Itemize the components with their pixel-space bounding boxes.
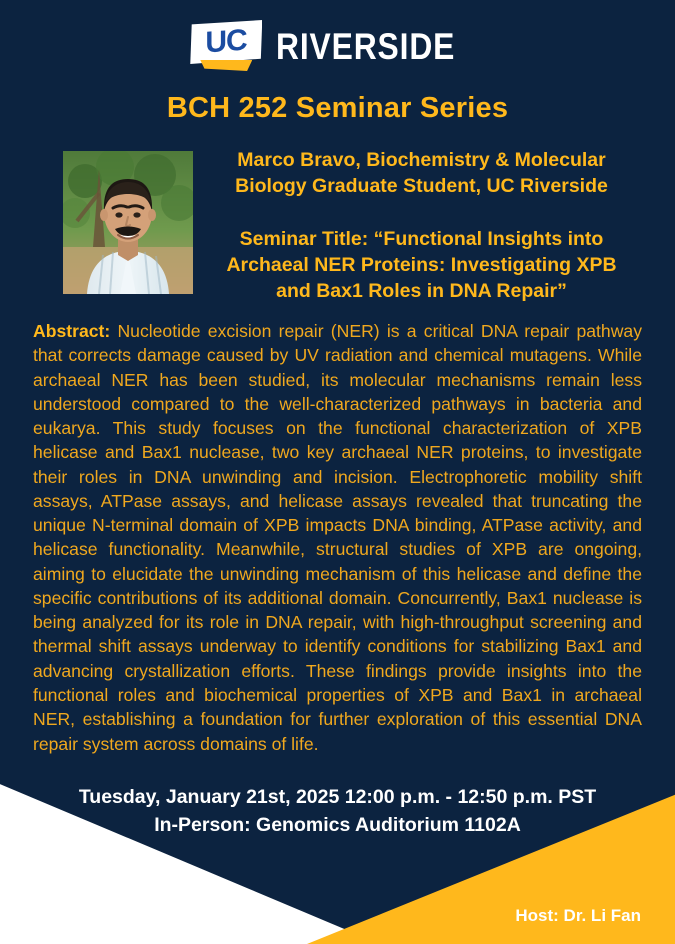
seminar-title-line-3: and Bax1 Roles in DNA Repair” [205,278,638,304]
seminar-title-line-2: Archaeal NER Proteins: Investigating XPB [205,252,638,278]
uc-logo-icon: UC [190,20,266,72]
seminar-poster: UC RIVERSIDE BCH 252 Seminar Series [0,0,675,944]
seminar-title: Seminar Title: “Functional Insights into… [205,226,638,304]
speaker-portrait-illustration [63,151,193,294]
abstract-label: Abstract: [33,321,110,341]
speaker-name-line-2: Biology Graduate Student, UC Riverside [205,174,638,200]
series-title: BCH 252 Seminar Series [0,92,675,125]
ucr-logo-lockup: UC RIVERSIDE [0,16,675,76]
uc-logo-letters: UC [190,18,262,65]
seminar-title-line-1: Seminar Title: “Functional Insights into [205,226,638,252]
event-details: Tuesday, January 21st, 2025 12:00 p.m. -… [0,784,675,839]
riverside-wordmark: RIVERSIDE [276,28,455,65]
speaker-info: Marco Bravo, Biochemistry & Molecular Bi… [205,148,638,199]
abstract-section: Abstract: Nucleotide excision repair (NE… [33,319,642,756]
event-location: In-Person: Genomics Auditorium 1102A [0,812,675,840]
speaker-name-line-1: Marco Bravo, Biochemistry & Molecular [205,148,638,174]
event-datetime: Tuesday, January 21st, 2025 12:00 p.m. -… [0,784,675,812]
speaker-photo [63,151,193,294]
host-credit: Host: Dr. Li Fan [515,906,641,926]
abstract-body: Nucleotide excision repair (NER) is a cr… [33,321,642,754]
